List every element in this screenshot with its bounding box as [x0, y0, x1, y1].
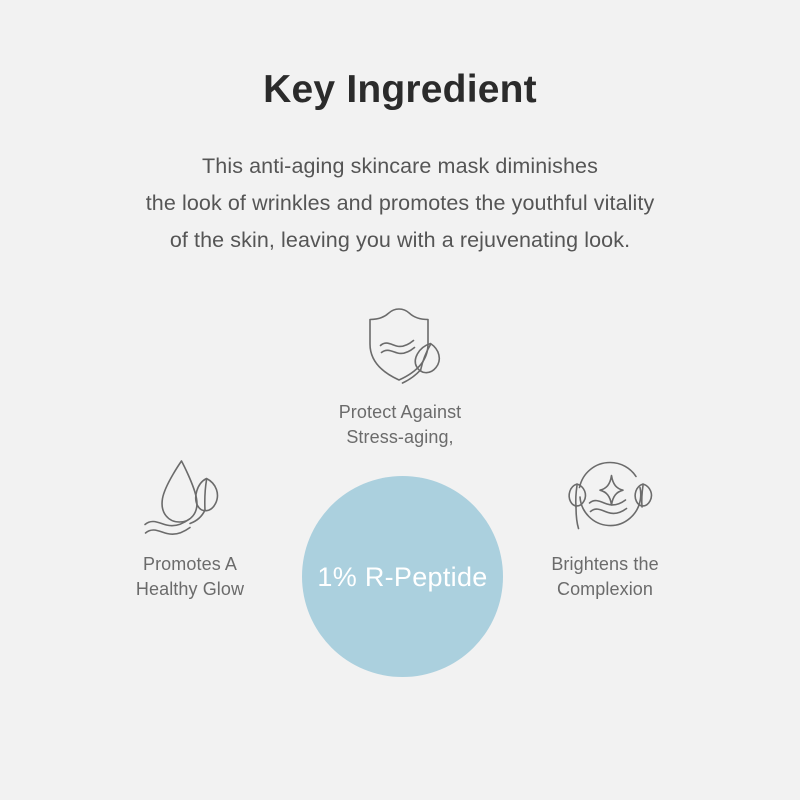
feature-promotes-healthy-glow: Promotes A Healthy Glow	[85, 456, 295, 602]
feature-caption-line-2: Healthy Glow	[85, 577, 295, 602]
feature-brightens-complexion: Brightens the Complexion	[500, 456, 710, 602]
key-ingredient-infographic: Key Ingredient This anti-aging skincare …	[0, 0, 800, 800]
feature-caption-line-2: Stress-aging,	[295, 425, 505, 450]
benefits-diagram: Protect Against Stress-aging,	[0, 0, 800, 800]
feature-caption-line-1: Brightens the	[500, 552, 710, 577]
feature-caption-line-2: Complexion	[500, 577, 710, 602]
feature-caption-line-1: Promotes A	[85, 552, 295, 577]
shield-leaf-icon	[295, 304, 505, 390]
droplet-leaf-waves-icon	[85, 456, 295, 542]
feature-caption: Protect Against Stress-aging,	[295, 400, 505, 450]
badge-label: 1% R-Peptide	[317, 561, 487, 593]
feature-caption-line-1: Protect Against	[295, 400, 505, 425]
feature-protect-against-stress-aging: Protect Against Stress-aging,	[295, 304, 505, 450]
feature-caption: Promotes A Healthy Glow	[85, 552, 295, 602]
feature-caption: Brightens the Complexion	[500, 552, 710, 602]
key-ingredient-badge: 1% R-Peptide	[302, 476, 503, 677]
face-sparkle-leaves-icon	[500, 456, 710, 542]
